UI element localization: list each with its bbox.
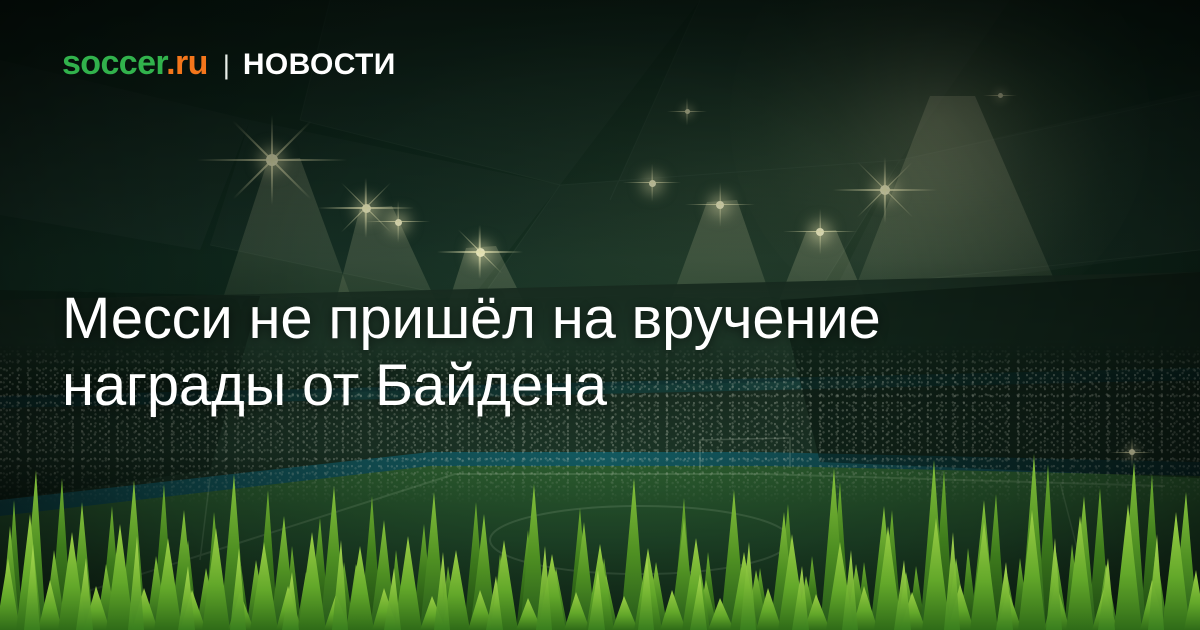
article-headline: Месси не пришёл на вручение награды от Б…	[62, 285, 992, 420]
news-share-banner: soccer.ru | НОВОСТИ Месси не пришёл на в…	[0, 0, 1200, 630]
site-logo[interactable]: soccer.ru	[62, 46, 208, 80]
logo-text-ru: .ru	[166, 44, 208, 82]
logo-text-soccer: soccer	[62, 44, 166, 82]
site-header: soccer.ru | НОВОСТИ	[62, 46, 396, 80]
section-label-news[interactable]: НОВОСТИ	[243, 50, 396, 80]
foreground-grass	[0, 440, 1200, 630]
header-separator: |	[223, 52, 230, 79]
